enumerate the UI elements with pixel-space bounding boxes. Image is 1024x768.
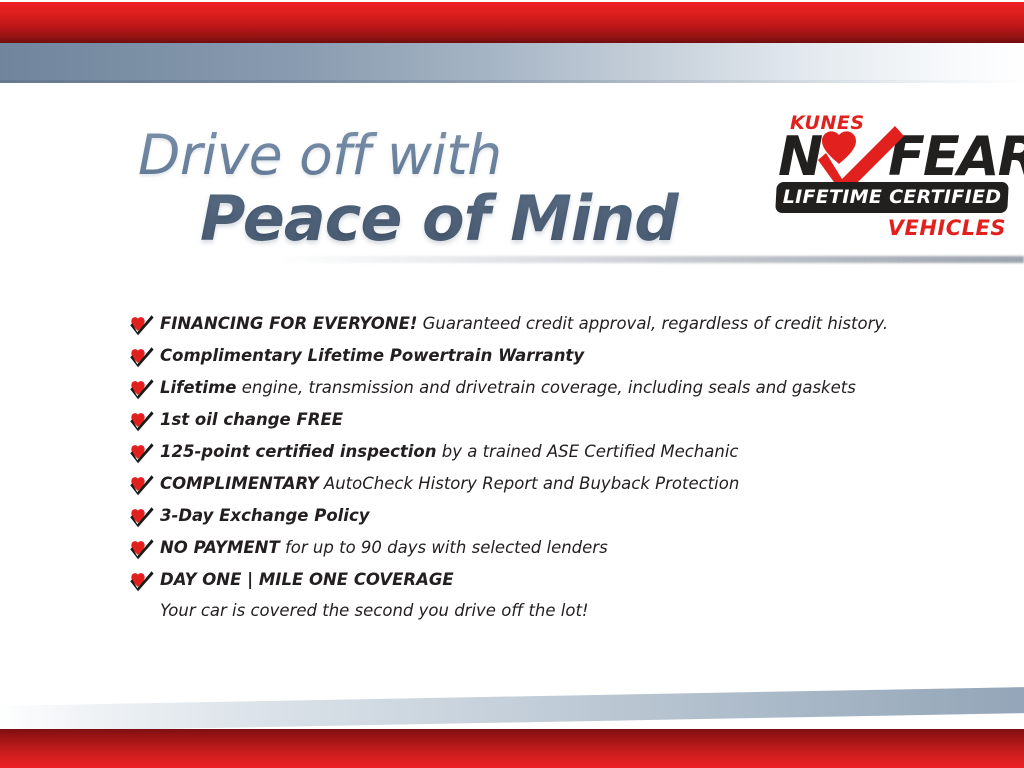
logo-word-fear: FEAR [888, 130, 1024, 184]
heart-check-icon [130, 378, 154, 400]
list-item-normal: AutoCheck History Report and Buyback Pro… [319, 474, 740, 493]
heart-check-icon [130, 314, 154, 336]
logo-vehicles-text: VEHICLES [888, 216, 1006, 240]
list-item-text: 1st oil change FREE [160, 407, 343, 431]
top-red-accent-bar [0, 2, 1024, 43]
list-item-strong: NO PAYMENT [160, 538, 280, 557]
list-item: 125-point certified inspection by a trai… [130, 439, 960, 471]
kunes-no-fear-logo: KUNES N FEAR LIFETIME CERTIFIED VEHICLES [776, 112, 1008, 244]
list-item: FINANCING FOR EVERYONE! Guaranteed credi… [130, 311, 960, 343]
heart-check-icon [130, 410, 154, 432]
list-item-strong: DAY ONE | MILE ONE COVERAGE [160, 570, 454, 589]
logo-letter-n: N [778, 130, 821, 184]
list-item-text: NO PAYMENT for up to 90 days with select… [160, 535, 608, 559]
list-item-strong: COMPLIMENTARY [160, 474, 319, 493]
heart-check-icon [130, 538, 154, 560]
list-item-normal: for up to 90 days with selected lenders [280, 538, 608, 557]
heart-check-icon [130, 506, 154, 528]
list-item: Complimentary Lifetime Powertrain Warran… [130, 343, 960, 375]
list-item-text: DAY ONE | MILE ONE COVERAGE [160, 567, 454, 591]
list-item-strong: 125-point certified inspection [160, 442, 437, 461]
bottom-gray-accent-bar [0, 687, 1024, 732]
heart-check-icon [130, 442, 154, 464]
heart-check-icon [130, 570, 154, 592]
headline-line-1: Drive off with [138, 126, 758, 184]
list-item-normal: by a trained ASE Certified Mechanic [437, 442, 739, 461]
list-item-text: 3-Day Exchange Policy [160, 503, 370, 527]
list-item-text: Lifetime engine, transmission and drivet… [160, 375, 856, 399]
logo-wordmark: N FEAR [776, 130, 1008, 186]
list-item: 3-Day Exchange Policy [130, 503, 960, 535]
heart-check-icon [130, 346, 154, 368]
logo-certified-banner: LIFETIME CERTIFIED [775, 182, 1009, 213]
list-item-text: Complimentary Lifetime Powertrain Warran… [160, 343, 584, 367]
logo-certified-text: LIFETIME CERTIFIED [776, 182, 1008, 213]
headline-line-2: Peace of Mind [200, 186, 758, 252]
list-item-text: FINANCING FOR EVERYONE! Guaranteed credi… [160, 311, 888, 335]
list-item: 1st oil change FREE [130, 407, 960, 439]
list-item: NO PAYMENT for up to 90 days with select… [130, 535, 960, 567]
list-item: Lifetime engine, transmission and drivet… [130, 375, 960, 407]
list-item: DAY ONE | MILE ONE COVERAGE [130, 567, 960, 599]
promotional-banner: Drive off with Peace of Mind KUNES N FEA… [0, 0, 1024, 768]
bottom-red-accent-bar [0, 729, 1024, 768]
list-item-strong: Lifetime [160, 378, 236, 397]
list-item-normal: Guaranteed credit approval, regardless o… [417, 314, 888, 333]
header-divider [270, 256, 1024, 263]
coverage-subtext: Your car is covered the second you drive… [160, 600, 589, 622]
list-item-strong: 3-Day Exchange Policy [160, 506, 370, 525]
list-item-strong: 1st oil change FREE [160, 410, 343, 429]
list-item: COMPLIMENTARY AutoCheck History Report a… [130, 471, 960, 503]
heart-check-icon [130, 474, 154, 496]
headline-block: Drive off with Peace of Mind [138, 126, 758, 252]
list-item-normal: engine, transmission and drivetrain cove… [236, 378, 855, 397]
top-gray-accent-bar [0, 43, 1024, 83]
features-list: FINANCING FOR EVERYONE! Guaranteed credi… [130, 311, 960, 599]
list-item-strong: Complimentary Lifetime Powertrain Warran… [160, 346, 584, 365]
list-item-text: COMPLIMENTARY AutoCheck History Report a… [160, 471, 739, 495]
list-item-strong: FINANCING FOR EVERYONE! [160, 314, 417, 333]
list-item-text: 125-point certified inspection by a trai… [160, 439, 738, 463]
